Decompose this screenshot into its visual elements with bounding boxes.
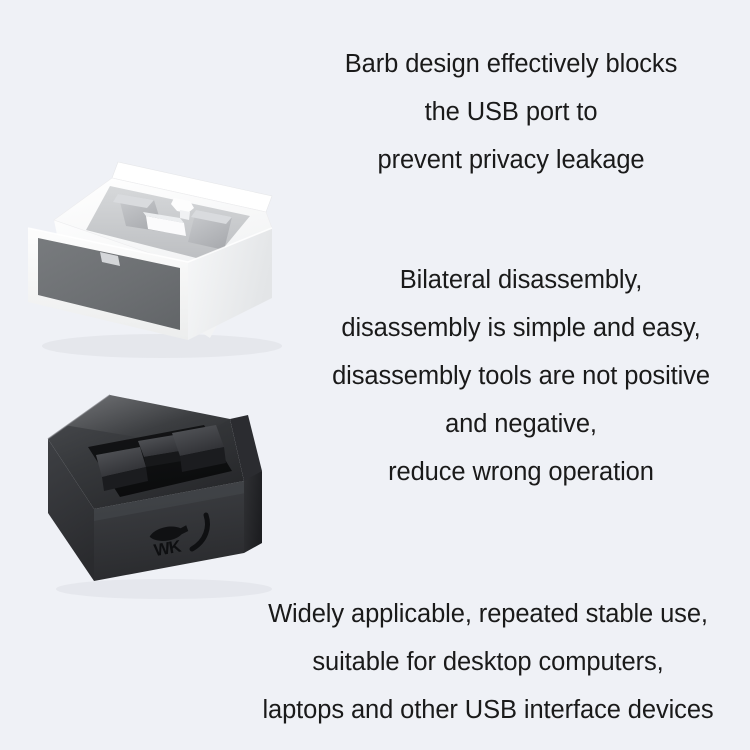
feature-text-line: Widely applicable, repeated stable use, [262, 590, 713, 638]
product-photo-black-usb-blocker: WK [34, 385, 290, 600]
feature-text-compatibility: Widely applicable, repeated stable use, … [262, 590, 713, 734]
feature-text-line: and negative, [332, 400, 710, 448]
feature-text-line: the USB port to [345, 88, 677, 136]
black-box-right-face [244, 471, 262, 553]
feature-text-line: disassembly is simple and easy, [332, 304, 710, 352]
feature-text-line: reduce wrong operation [332, 448, 710, 496]
feature-text-line: Barb design effectively blocks [345, 40, 677, 88]
product-photo-white-usb-blocker [14, 150, 290, 365]
feature-text-line: prevent privacy leakage [345, 136, 677, 184]
product-shadow [42, 334, 282, 358]
feature-text-line: disassembly tools are not positive [332, 352, 710, 400]
feature-text-privacy: Barb design effectively blocks the USB p… [345, 40, 677, 184]
feature-text-disassembly: Bilateral disassembly, disassembly is si… [332, 256, 710, 496]
product-feature-image: Barb design effectively blocks the USB p… [0, 0, 750, 750]
feature-text-line: Bilateral disassembly, [332, 256, 710, 304]
feature-text-line: suitable for desktop computers, [262, 638, 713, 686]
feature-text-line: laptops and other USB interface devices [262, 686, 713, 734]
product-shadow [56, 579, 272, 599]
